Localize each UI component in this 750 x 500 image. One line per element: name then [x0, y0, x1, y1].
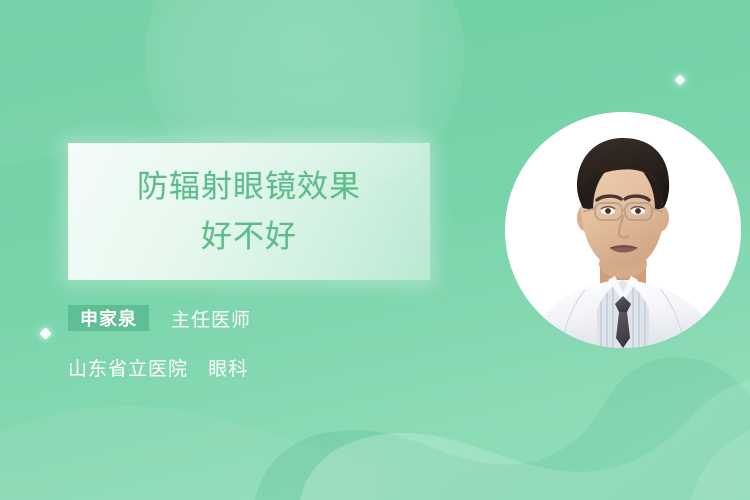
- doctor-meta: 申家泉 主任医师 山东省立医院 眼科: [68, 303, 468, 381]
- doctor-hospital: 山东省立医院: [68, 359, 188, 380]
- doctor-info-card: 防辐射眼镜效果 好不好 申家泉 主任医师 山东省立医院 眼科: [0, 0, 750, 500]
- title-line-1: 防辐射眼镜效果: [137, 162, 361, 212]
- doctor-name-row: 申家泉 主任医师: [68, 303, 468, 333]
- doctor-department: 眼科: [208, 359, 248, 380]
- doctor-portrait-image: [505, 112, 741, 348]
- title-line-2: 好不好: [201, 212, 297, 262]
- doctor-job-title: 主任医师: [171, 305, 251, 332]
- doctor-portrait: [505, 112, 741, 348]
- title-plate: 防辐射眼镜效果 好不好: [68, 143, 430, 280]
- doctor-hospital-row: 山东省立医院 眼科: [68, 354, 468, 381]
- doctor-name-badge: 申家泉: [68, 305, 149, 331]
